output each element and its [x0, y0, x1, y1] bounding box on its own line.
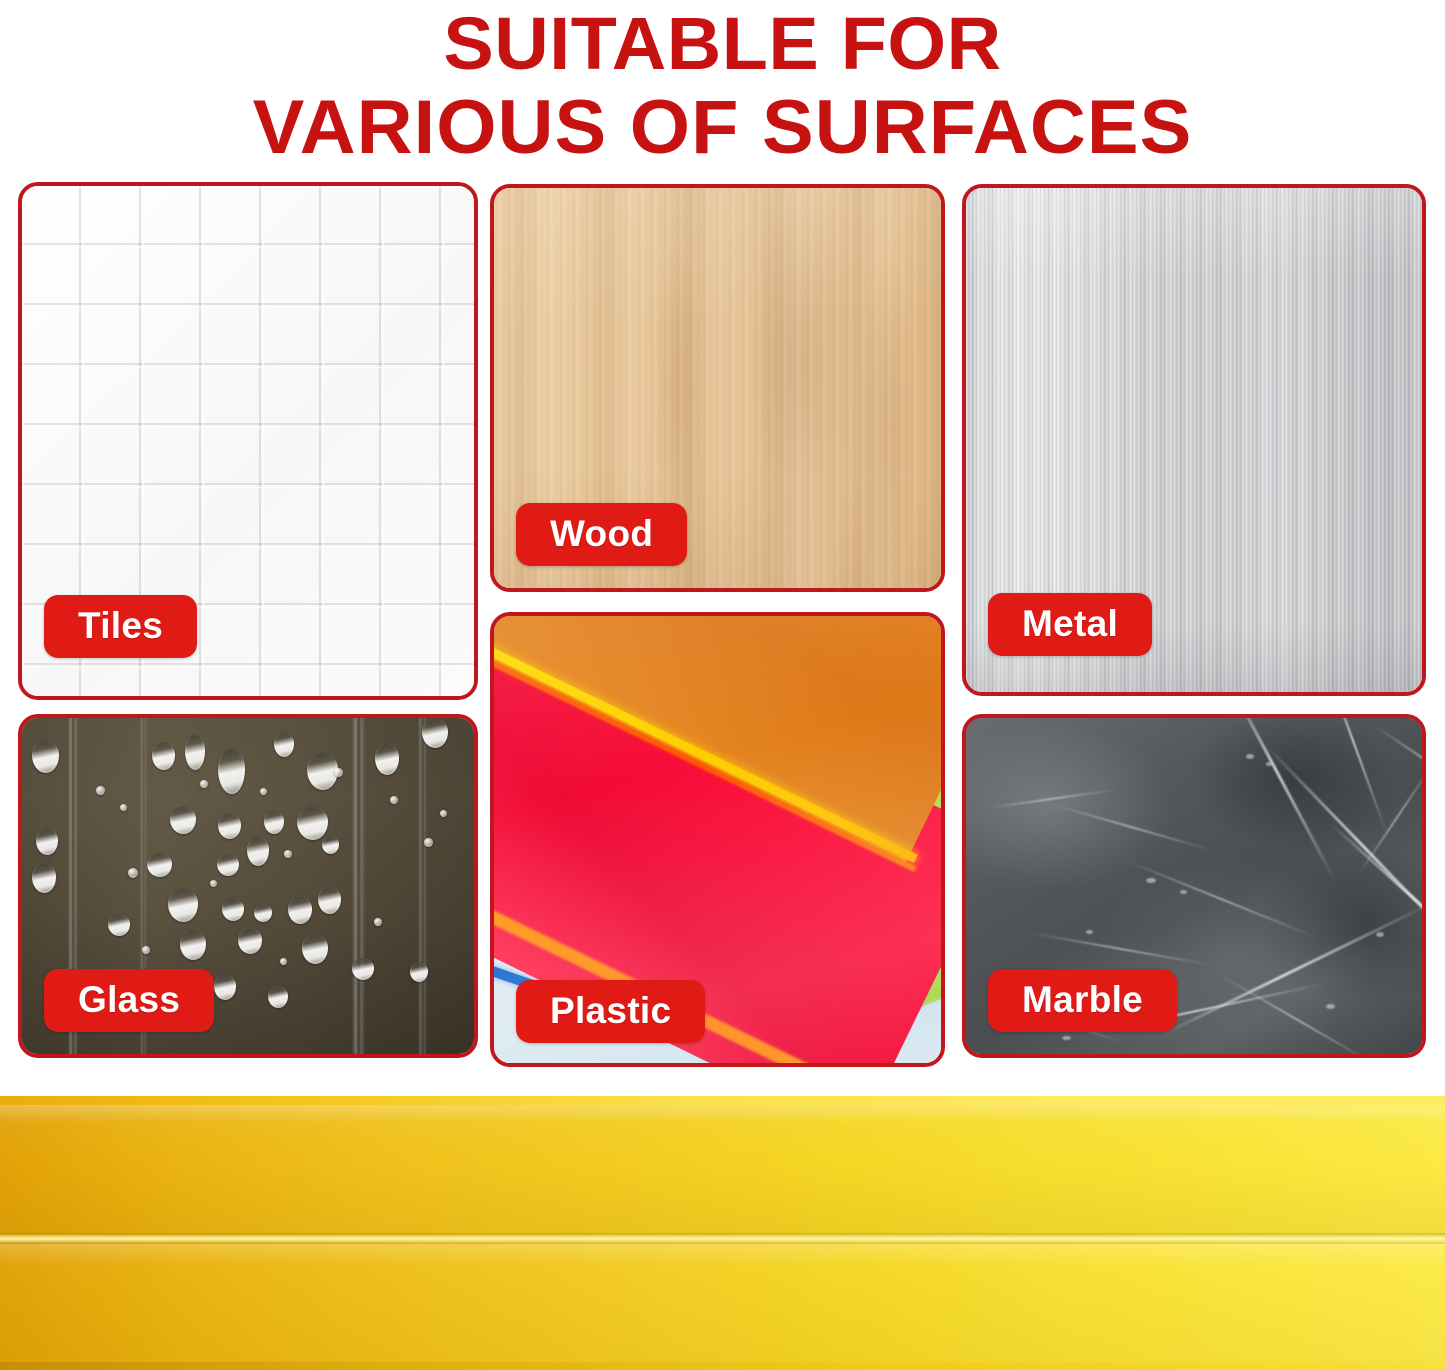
page-title-line-2: VARIOUS OF SURFACES: [0, 86, 1445, 170]
bar-upper-face: [0, 1105, 1445, 1233]
surface-label-metal: Metal: [988, 593, 1152, 656]
bar-lower-face: [0, 1244, 1445, 1362]
surface-card-marble: Marble: [962, 714, 1426, 1058]
surface-card-tiles: Tiles: [18, 182, 478, 700]
surface-card-metal: Metal: [962, 184, 1426, 696]
surface-card-wood: Wood: [490, 184, 945, 592]
surface-card-plastic: Plastic: [490, 612, 945, 1067]
page-title-line-1: SUITABLE FOR: [0, 2, 1445, 86]
surface-card-glass: Glass: [18, 714, 478, 1058]
bar-groove-line: [0, 1233, 1445, 1244]
product-yellow-bar: [0, 1096, 1445, 1370]
surface-label-glass: Glass: [44, 969, 214, 1032]
surface-label-plastic: Plastic: [516, 980, 705, 1043]
surface-label-tiles: Tiles: [44, 595, 197, 658]
bar-bottom-shadow: [0, 1362, 1445, 1370]
bar-top-highlight: [0, 1096, 1445, 1105]
page-title: SUITABLE FOR VARIOUS OF SURFACES: [0, 2, 1445, 170]
surfaces-infographic: SUITABLE FOR VARIOUS OF SURFACES Tiles W…: [0, 0, 1445, 1370]
surface-label-marble: Marble: [988, 969, 1177, 1032]
surface-label-wood: Wood: [516, 503, 687, 566]
